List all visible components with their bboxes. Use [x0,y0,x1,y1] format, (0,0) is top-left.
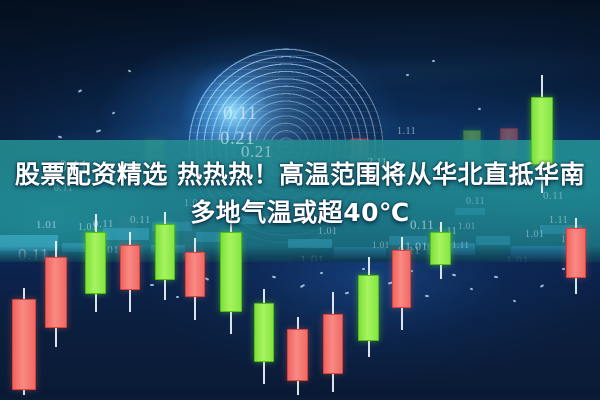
particle [562,268,565,270]
candle-body [120,245,140,290]
candlestick-bearish [323,292,343,392]
candle-body [220,232,242,312]
ticker-number: 1.01 [458,221,476,231]
candlestick-bearish [12,288,36,400]
particle [176,296,179,298]
candle-body [358,275,379,341]
ticker-number: 0.11 [466,196,485,207]
ticker-number: 0.11 [223,103,258,125]
particle [150,284,154,286]
bottom-edge-strip [0,395,600,400]
candlestick-bullish [155,212,175,300]
ticker-number: 0.21 [241,142,273,162]
candle-body [155,224,175,280]
ticker-number: 1.01 [184,198,204,209]
candlestick-bearish [185,238,205,320]
candlestick-bullish [430,222,451,279]
candle-body [254,303,274,362]
candlestick-bearish [566,218,586,294]
data-bar [455,208,485,215]
ticker-number: 1.01 [525,229,545,240]
candle-body [12,299,36,390]
candlestick-bearish [45,241,67,347]
candlestick-bullish [220,218,242,334]
candlestick-bearish [120,232,140,312]
candlestick-bearish [287,317,308,397]
candle-body [185,252,205,297]
candlestick-bullish [531,75,553,193]
candlestick-bullish [254,289,274,384]
ticker-number: 0.11 [54,183,73,194]
data-bar [238,216,271,224]
candle-body [85,232,106,294]
ticker-number: 0.11 [130,214,151,226]
ticker-number: 1.11 [397,126,416,137]
candle-body [430,232,451,265]
candle-body [323,314,343,374]
particle [494,276,498,279]
news-banner-image: 0.110.211.110.110.213.111.011.010.110.11… [0,0,600,400]
candle-body [566,228,586,278]
candle-body [287,329,308,381]
particle [425,295,429,297]
candlestick-bullish [85,214,106,312]
particle [478,108,481,111]
ticker-number: 1.01 [318,226,338,237]
candlestick-bearish [392,237,411,330]
ticker-number: 0.11 [59,158,88,176]
ticker-number: 1.01 [36,219,57,231]
candle-body [531,97,553,165]
ticker-number: 1.11 [293,208,312,219]
candlestick-bullish [358,257,379,357]
ticker-number: 1.11 [515,172,532,182]
data-bar [476,236,510,245]
ticker-number: 3.11 [368,157,387,168]
particle [432,60,435,62]
candle-body [45,257,67,328]
candle-body [392,250,411,308]
